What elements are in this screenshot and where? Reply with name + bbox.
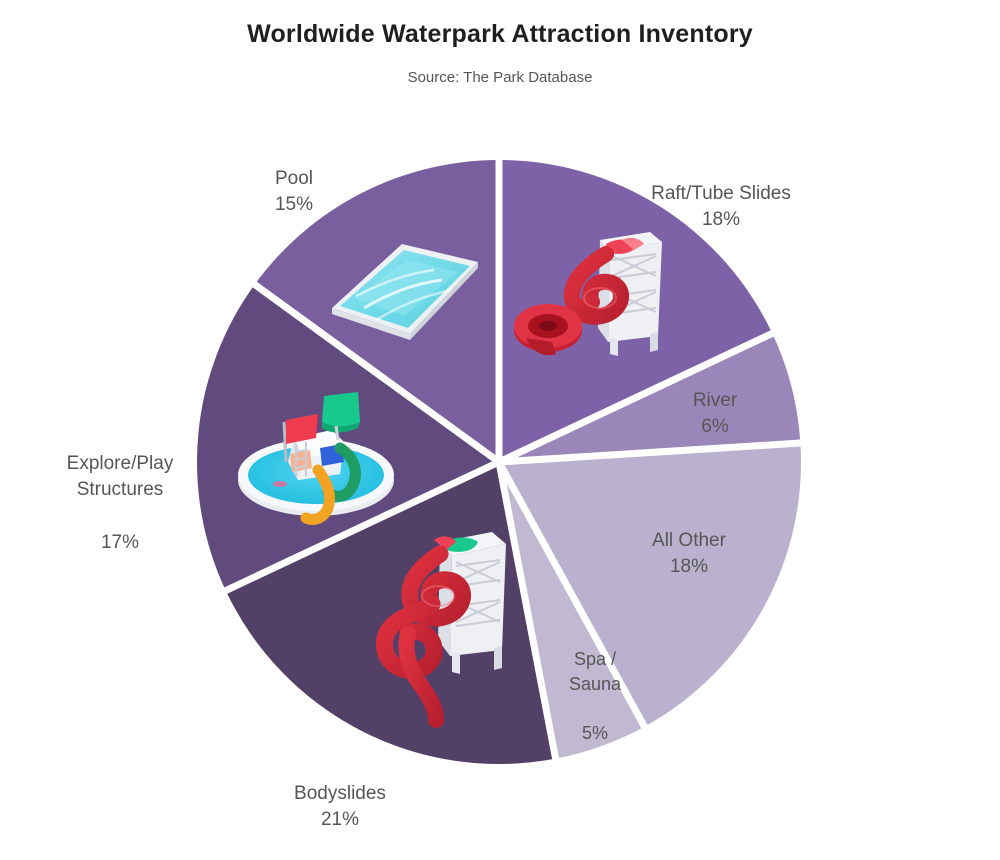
pie-svg <box>0 0 1000 840</box>
pie-chart: Pool 15% Raft/Tube Slides 18% River 6% A… <box>0 0 1000 840</box>
chart-canvas: Worldwide Waterpark Attraction Inventory… <box>0 0 1000 840</box>
